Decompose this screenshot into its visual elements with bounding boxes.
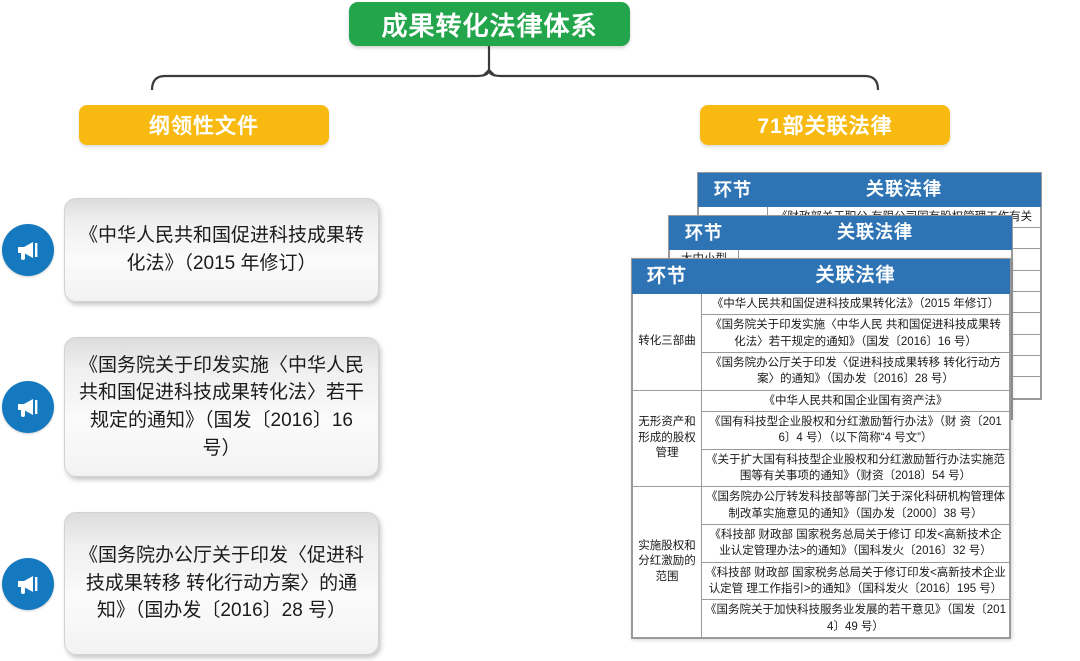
cell-law: 《国有科技型企业股权和分红激励暂行办法》（财 资〔2016〕4 号）（以下简称“… xyxy=(702,411,1010,449)
cell-law: 《中华人民共和国促进科技成果转化法》（2015 年修订） xyxy=(702,293,1010,314)
tree-connector xyxy=(0,44,1080,106)
cell-law: 《科技部 财政部 国家税务总局关于修订印发<高新技术企业认定管 理工作指引>的通… xyxy=(702,562,1010,600)
table-header-row: 环节 关联法律 xyxy=(633,260,1010,294)
law-table-front-body: 转化三部曲 《中华人民共和国促进科技成果转化法》（2015 年修订） 《国务院关… xyxy=(633,293,1010,637)
column-header-stage: 环节 xyxy=(699,174,768,207)
cell-stage: 实施股权和分红激励的范围 xyxy=(633,487,702,638)
megaphone-glyph xyxy=(13,235,43,265)
law-table-front-grid: 环节 关联法律 转化三部曲 《中华人民共和国促进科技成果转化法》（2015 年修… xyxy=(632,259,1010,638)
table-header-row: 环节 关联法律 xyxy=(670,217,1012,250)
table-header-row: 环节 关联法律 xyxy=(699,174,1041,207)
cell-law: 《中华人民共和国企业国有资产法》 xyxy=(702,390,1010,411)
document-row: 《中华人民共和国促进科技成果转化法》（2015 年修订） xyxy=(0,198,379,302)
law-table-front[interactable]: 环节 关联法律 转化三部曲 《中华人民共和国促进科技成果转化法》（2015 年修… xyxy=(631,258,1011,639)
document-card-text: 《中华人民共和国促进科技成果转化法》（2015 年修订） xyxy=(64,198,379,302)
document-row: 《国务院关于印发实施〈中华人民 共和国促进科技成果转化法〉若干规定的通知》（国发… xyxy=(0,337,379,477)
document-card-text: 《国务院办公厅关于印发〈促进科技成果转移 转化行动方案〉的通知》（国办发〔201… xyxy=(64,512,379,655)
root-node-title: 成果转化法律体系 xyxy=(349,2,630,46)
megaphone-icon xyxy=(2,224,54,276)
cell-law: 《国务院关于印发实施〈中华人民 共和国促进科技成果转化法〉若干规定的通知》（国发… xyxy=(702,315,1010,353)
cell-law: 《科技部 财政部 国家税务总局关于修订 印发<高新技术企业认定管理办法>的通知》… xyxy=(702,524,1010,562)
document-row: 《国务院办公厅关于印发〈促进科技成果转移 转化行动方案〉的通知》（国办发〔201… xyxy=(0,512,379,655)
cell-stage: 转化三部曲 xyxy=(633,293,702,390)
cell-law: 《关于扩大国有科技型企业股权和分红激励暂行办法实施范围等有关事项的通知》（财资〔… xyxy=(702,449,1010,487)
table-row: 转化三部曲 《中华人民共和国促进科技成果转化法》（2015 年修订） xyxy=(633,293,1010,314)
cell-law: 《国务院关于加快科技服务业发展的若干意见》（国发〔2014〕49 号） xyxy=(702,600,1010,638)
column-header-stage: 环节 xyxy=(633,260,702,294)
document-card-text: 《国务院关于印发实施〈中华人民 共和国促进科技成果转化法〉若干规定的通知》（国发… xyxy=(64,337,379,477)
column-header-law: 关联法律 xyxy=(739,217,1012,250)
connector-svg xyxy=(0,44,1080,106)
megaphone-icon xyxy=(2,558,54,610)
column-header-stage: 环节 xyxy=(670,217,739,250)
megaphone-icon xyxy=(2,381,54,433)
column-header-law: 关联法律 xyxy=(702,260,1010,294)
cell-law: 《国务院办公厅转发科技部等部门关于深化科研机构管理体制改革实施意见的通知》（国办… xyxy=(702,487,1010,525)
branch-header-related-laws[interactable]: 71部关联法律 xyxy=(700,105,950,145)
megaphone-glyph xyxy=(13,392,43,422)
table-row: 无形资产和形成的股权管理 《中华人民共和国企业国有资产法》 xyxy=(633,390,1010,411)
cell-law: 《国务院办公厅关于印发〈促进科技成果转移 转化行动方案〉的通知》（国办发〔201… xyxy=(702,352,1010,390)
branch-header-guiding-documents[interactable]: 纲领性文件 xyxy=(79,105,329,145)
table-row: 实施股权和分红激励的范围 《国务院办公厅转发科技部等部门关于深化科研机构管理体制… xyxy=(633,487,1010,525)
column-header-law: 关联法律 xyxy=(768,174,1041,207)
megaphone-glyph xyxy=(13,569,43,599)
cell-stage: 无形资产和形成的股权管理 xyxy=(633,390,702,487)
